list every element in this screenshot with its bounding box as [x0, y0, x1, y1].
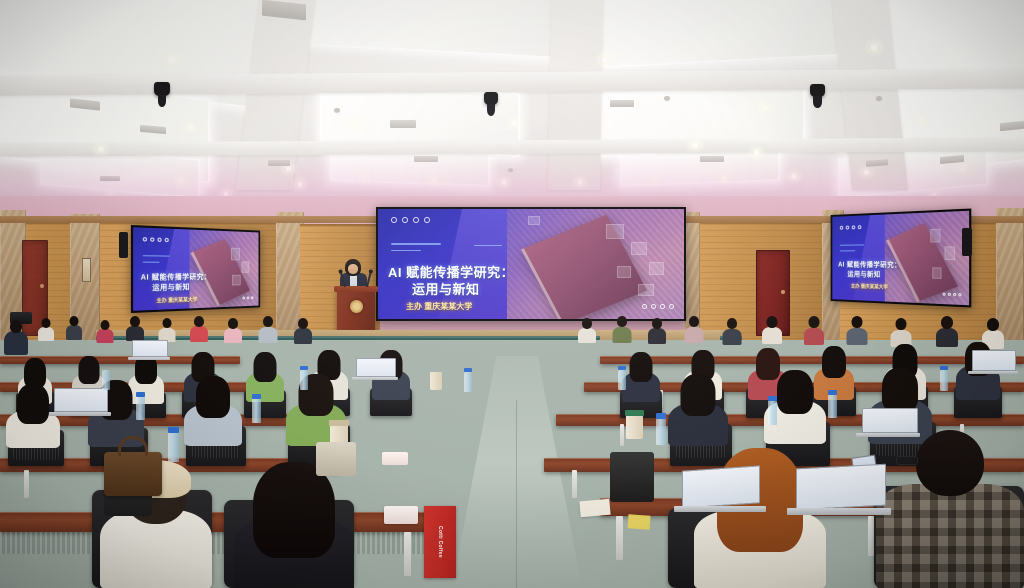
main-screen-photo-blocks [507, 209, 684, 319]
main-screen-decor-rules [391, 243, 441, 256]
recessed-downlight [360, 176, 368, 181]
camera-operator [4, 320, 28, 354]
main-screen-decor-dots-2 [642, 304, 674, 309]
person-head [727, 318, 737, 329]
left-led-screen: AI 赋能传播学研究： 运用与新知 主办 重庆某某大学 [131, 225, 260, 313]
left-screen-title-line2: 运用与新知 [152, 284, 190, 294]
ceiling-light-panel [598, 0, 848, 69]
audience-person [612, 316, 631, 342]
podium-top-surface [334, 286, 378, 292]
white-box [382, 452, 408, 465]
laptop-screen [682, 465, 760, 508]
person-hair [630, 352, 653, 382]
laptop-screen [796, 464, 886, 511]
main-screen-title-line2: 运用与新知 [412, 282, 480, 298]
person-head [895, 318, 906, 330]
audience-person [258, 316, 277, 342]
bottle-cap [464, 368, 472, 372]
laptop-screen [356, 358, 396, 377]
desk-leg [616, 516, 623, 560]
recessed-downlight [862, 170, 871, 175]
wall-sconce [82, 258, 91, 282]
person-body [648, 328, 666, 344]
laptop-left-far[interactable] [132, 340, 168, 360]
audience-person [66, 316, 82, 340]
bottle-cap [656, 413, 666, 419]
recessed-downlight [916, 116, 926, 122]
audience-person [722, 318, 741, 344]
left-screen-decor-rules [143, 255, 170, 268]
main-led-screen: AI 赋能传播学研究： 运用与新知 主办 重庆某某大学 [376, 207, 686, 321]
water-bottle [102, 370, 110, 390]
person-body [722, 329, 741, 345]
speaker-face [348, 264, 358, 274]
front-person-longhair [234, 462, 354, 588]
water-bottle [828, 394, 837, 418]
recessed-downlight [576, 180, 584, 185]
laptop-base [352, 377, 398, 380]
person-hair [882, 368, 918, 412]
person-body [804, 328, 824, 345]
ceiling-air-vent [268, 160, 290, 166]
ceiling-beam [548, 0, 604, 190]
laptop-base [674, 506, 766, 512]
person-head [42, 318, 51, 328]
bottle-cap [168, 427, 179, 433]
person-head [162, 318, 171, 328]
bottle-cap [136, 392, 145, 397]
laptop-right-1[interactable] [682, 468, 760, 510]
person-body [762, 327, 782, 344]
sticky-note [628, 514, 651, 530]
recessed-downlight [296, 182, 304, 187]
desk-leg [404, 532, 411, 576]
audience-person [294, 318, 312, 343]
left-screen-photo-panel [190, 230, 259, 309]
audience-person [762, 316, 782, 343]
laptop-far-right[interactable] [972, 350, 1016, 374]
right-screen-decor-rules [840, 244, 864, 256]
ceiling-light-panel [300, 0, 560, 59]
audience-person [126, 316, 144, 340]
audience-person [804, 316, 824, 344]
person-body [66, 325, 82, 340]
person-head [100, 320, 109, 330]
water-bottle [136, 396, 145, 420]
recessed-downlight [176, 178, 185, 183]
right-screen-photo-panel [885, 211, 969, 306]
audience-person [96, 320, 113, 342]
person-body [126, 326, 144, 341]
person-body [612, 327, 631, 343]
podium-emblem [350, 300, 363, 313]
person-body [684, 327, 703, 343]
main-screen-decor-rules-2 [474, 245, 502, 251]
water-bottle [300, 370, 308, 390]
desk-leg [572, 470, 577, 498]
audience-person [578, 318, 596, 342]
ceiling-air-vent [610, 100, 634, 107]
desk-leg [620, 424, 624, 446]
recessed-downlight [186, 124, 196, 130]
stage-spotlight [810, 84, 825, 97]
wall-trim-left [0, 216, 390, 223]
person-head [194, 316, 204, 327]
audience-person [246, 352, 284, 400]
cotti-coffee-bag-label: Cotti Coffee [437, 526, 443, 558]
sprinkler-head [664, 96, 670, 100]
laptop-base [128, 357, 170, 360]
sprinkler-head [334, 108, 340, 112]
laptop-left-1[interactable] [54, 388, 108, 415]
bottle-cap [618, 366, 626, 370]
audience-person [224, 318, 242, 342]
decor-dot [424, 217, 430, 223]
bottle-cap [252, 394, 261, 399]
water-bottle [768, 400, 777, 425]
handbag-handle [118, 436, 148, 456]
person-body [258, 327, 277, 343]
recessed-downlight [752, 150, 761, 155]
ceiling [0, 0, 1024, 215]
tote-bag-light [316, 442, 356, 476]
person-hair [196, 376, 230, 418]
recessed-downlight [106, 190, 114, 194]
recessed-downlight [868, 44, 880, 51]
ceiling-air-vent [700, 156, 724, 162]
left-screen-decor-dots [143, 237, 169, 242]
right-screen-subtitle: 主办 重庆某某大学 [851, 283, 888, 291]
water-bottle [168, 432, 179, 462]
person-head [263, 316, 273, 327]
desk-front-panel [0, 532, 426, 554]
laptop-base [787, 508, 891, 515]
bottle-cap [940, 366, 948, 370]
person-body [936, 328, 958, 347]
sprinkler-head [876, 96, 882, 100]
tissue-box [384, 506, 418, 524]
water-bottle [252, 398, 261, 423]
audience-desk-front [0, 512, 426, 532]
person-body [224, 328, 242, 343]
bottle-cap [300, 366, 308, 370]
coffee-cup [430, 372, 442, 390]
aisle-floor-seam [516, 400, 517, 588]
laptop-right-2[interactable] [796, 466, 886, 512]
decor-dot [413, 217, 419, 223]
recessed-downlight [690, 142, 700, 148]
recessed-downlight [720, 176, 728, 181]
decor-dot [402, 217, 408, 223]
bottle-cap [768, 396, 777, 401]
audience-person [936, 316, 958, 346]
laptop-screen [132, 340, 168, 357]
audience-person [158, 318, 175, 341]
recessed-downlight [790, 174, 798, 179]
person-head [689, 316, 699, 327]
audience-person [648, 318, 666, 343]
ceiling-air-vent [414, 156, 438, 162]
left-screen-subtitle: 主办 重庆某某大学 [156, 296, 197, 305]
desk-leg [24, 470, 29, 498]
person-head [10, 320, 22, 333]
coffee-cup [626, 414, 643, 439]
recessed-downlight [760, 104, 770, 110]
right-screen-decor-dots [840, 225, 862, 230]
audience-person [184, 376, 242, 440]
right-screen-photo-blocks [885, 211, 969, 306]
recessed-downlight [430, 178, 438, 183]
recessed-downlight [958, 166, 967, 171]
water-bottle [940, 370, 948, 391]
left-screen-decor-dots-2 [242, 296, 253, 299]
wall-speaker-left [119, 232, 128, 258]
audience-person [622, 352, 660, 400]
main-screen-photo-panel [507, 209, 684, 319]
person-head [298, 318, 308, 329]
recessed-downlight [96, 146, 106, 152]
left-screen-title-line1: AI 赋能传播学研究： [141, 274, 211, 283]
audience-person [846, 316, 867, 344]
stage-spotlight [154, 82, 170, 96]
sprinkler-head [508, 168, 513, 171]
person-head [70, 316, 79, 326]
water-bottle [618, 370, 626, 390]
decor-dot [391, 217, 397, 223]
leather-handbag [104, 452, 162, 496]
person-body [96, 329, 113, 343]
person-hair [777, 370, 813, 414]
laptop-screen [862, 408, 918, 433]
laptop-screen [54, 388, 108, 412]
person-head [228, 318, 238, 329]
recessed-downlight [284, 166, 293, 171]
main-screen-decor-dots [391, 217, 430, 223]
person-head [851, 316, 862, 328]
person-body [846, 328, 867, 345]
ceiling-air-vent [390, 120, 416, 128]
recessed-downlight [510, 120, 519, 126]
coffee-cup-lid [329, 420, 349, 426]
person-body [38, 327, 54, 341]
person-hair [253, 462, 335, 558]
recessed-downlight [500, 180, 508, 185]
wall-speaker-right [962, 228, 972, 256]
recessed-downlight [166, 56, 178, 63]
person-body [294, 328, 312, 344]
laptop-mid-right[interactable] [862, 408, 918, 436]
stage-spotlight [484, 92, 498, 105]
bottle-cap [828, 390, 837, 395]
audience-person [890, 318, 911, 346]
audience-person [684, 316, 703, 342]
notepad [579, 499, 610, 518]
person-head [987, 318, 999, 331]
person-body [876, 484, 1024, 588]
water-bottle [656, 418, 666, 445]
main-screen-subtitle: 主办 重庆某某大学 [406, 301, 472, 312]
laptop-base [968, 371, 1018, 374]
person-hair [17, 384, 49, 424]
person-hair [254, 352, 277, 382]
laptop-left-2[interactable] [356, 358, 396, 380]
lecture-hall-photo: AI 赋能传播学研究： 运用与新知 主办 重庆某某大学 [0, 0, 1024, 588]
person-head [809, 316, 820, 328]
recessed-downlight [600, 56, 611, 63]
person-body [4, 331, 28, 355]
coffee-cup-lid [625, 410, 644, 416]
person-body [578, 328, 596, 343]
water-bottle [464, 372, 472, 392]
person-body [190, 326, 208, 342]
right-led-screen: AI 赋能传播学研究： 运用与新知 主办 重庆某某大学 [831, 208, 972, 307]
recessed-downlight [650, 178, 658, 183]
right-screen-title-line2: 运用与新知 [847, 271, 880, 280]
person-head [617, 316, 627, 327]
front-person-plaid [876, 430, 1024, 588]
laptop-base [856, 433, 920, 437]
person-hair [681, 374, 716, 416]
laptop-base [49, 412, 111, 416]
main-screen-title-line1: AI 赋能传播学研究： [388, 265, 514, 281]
person-head [941, 316, 953, 329]
person-head [582, 318, 592, 329]
laptop-screen [972, 350, 1016, 371]
audience-person [190, 316, 208, 341]
eyeglasses [896, 456, 918, 465]
audience-person [38, 318, 54, 340]
right-screen-decor-dots-2 [943, 293, 962, 297]
person-head [130, 316, 140, 327]
person-head [652, 318, 662, 329]
cotti-coffee-bag: Cotti Coffee [424, 506, 456, 578]
backpack-right [610, 452, 654, 502]
recessed-downlight [350, 120, 360, 126]
right-screen-title-line1: AI 赋能传播学研究： [838, 262, 901, 271]
person-head [916, 430, 984, 496]
person-head [767, 316, 778, 328]
ceiling-air-vent [100, 176, 120, 181]
audience-person [668, 374, 728, 440]
